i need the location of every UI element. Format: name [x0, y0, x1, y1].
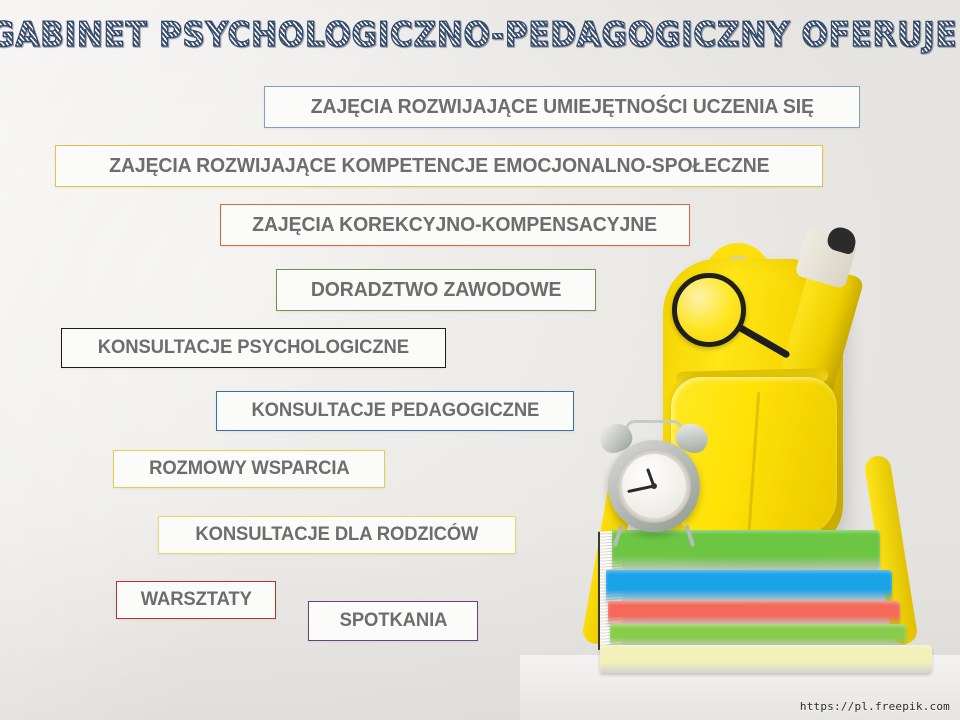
slide-canvas: GABINET PSYCHOLOGICZNO-PEDAGOGICZNY OFER… — [0, 0, 960, 720]
offer-box[interactable]: DORADZTWO ZAWODOWE — [276, 269, 596, 311]
title-area: GABINET PSYCHOLOGICZNO-PEDAGOGICZNY OFER… — [0, 18, 960, 53]
offer-box-label: KONSULTACJE DLA RODZICÓW — [196, 524, 479, 546]
offer-box[interactable]: ZAJĘCIA ROZWIJAJĄCE KOMPETENCJE EMOCJONA… — [55, 145, 823, 187]
offer-box[interactable]: WARSZTATY — [116, 581, 276, 619]
offer-box[interactable]: ZAJĘCIA ROZWIJAJĄCE UMIEJĘTNOŚCI UCZENIA… — [264, 86, 860, 128]
page-title: GABINET PSYCHOLOGICZNO-PEDAGOGICZNY OFER… — [0, 16, 960, 55]
book-item — [612, 530, 880, 572]
offer-box[interactable]: ROZMOWY WSPARCIA — [113, 450, 385, 488]
watermark: https://pl.freepik.com — [800, 700, 950, 713]
alarm-clock-center-pin-icon — [651, 483, 657, 489]
book-item — [600, 645, 932, 673]
offer-box[interactable]: SPOTKANIA — [308, 601, 478, 641]
offer-box[interactable]: KONSULTACJE PEDAGOGICZNE — [216, 391, 574, 431]
offer-box-label: ZAJĘCIA KOREKCYJNO-KOMPENSACYJNE — [253, 214, 658, 237]
magnifying-glass-icon — [672, 273, 746, 347]
offer-box-label: ZAJĘCIA ROZWIJAJĄCE KOMPETENCJE EMOCJONA… — [109, 155, 769, 178]
offer-box-label: KONSULTACJE PEDAGOGICZNE — [251, 400, 539, 422]
alarm-clock-bar-icon — [625, 420, 683, 430]
offer-box-label: ZAJĘCIA ROZWIJAJĄCE UMIEJĘTNOŚCI UCZENIA… — [310, 96, 813, 119]
offer-box-label: KONSULTACJE PSYCHOLOGICZNE — [98, 337, 409, 359]
book-item — [608, 601, 900, 625]
book-item — [610, 624, 906, 646]
offer-box-label: ROZMOWY WSPARCIA — [149, 458, 349, 480]
offer-box-label: DORADZTWO ZAWODOWE — [311, 279, 561, 302]
offer-box[interactable]: ZAJĘCIA KOREKCYJNO-KOMPENSACYJNE — [220, 204, 690, 246]
offer-box-label: WARSZTATY — [140, 589, 251, 611]
offer-box-label: SPOTKANIA — [339, 610, 447, 632]
offer-box[interactable]: KONSULTACJE PSYCHOLOGICZNE — [61, 328, 446, 368]
offer-box[interactable]: KONSULTACJE DLA RODZICÓW — [158, 516, 516, 554]
book-item — [606, 570, 892, 602]
